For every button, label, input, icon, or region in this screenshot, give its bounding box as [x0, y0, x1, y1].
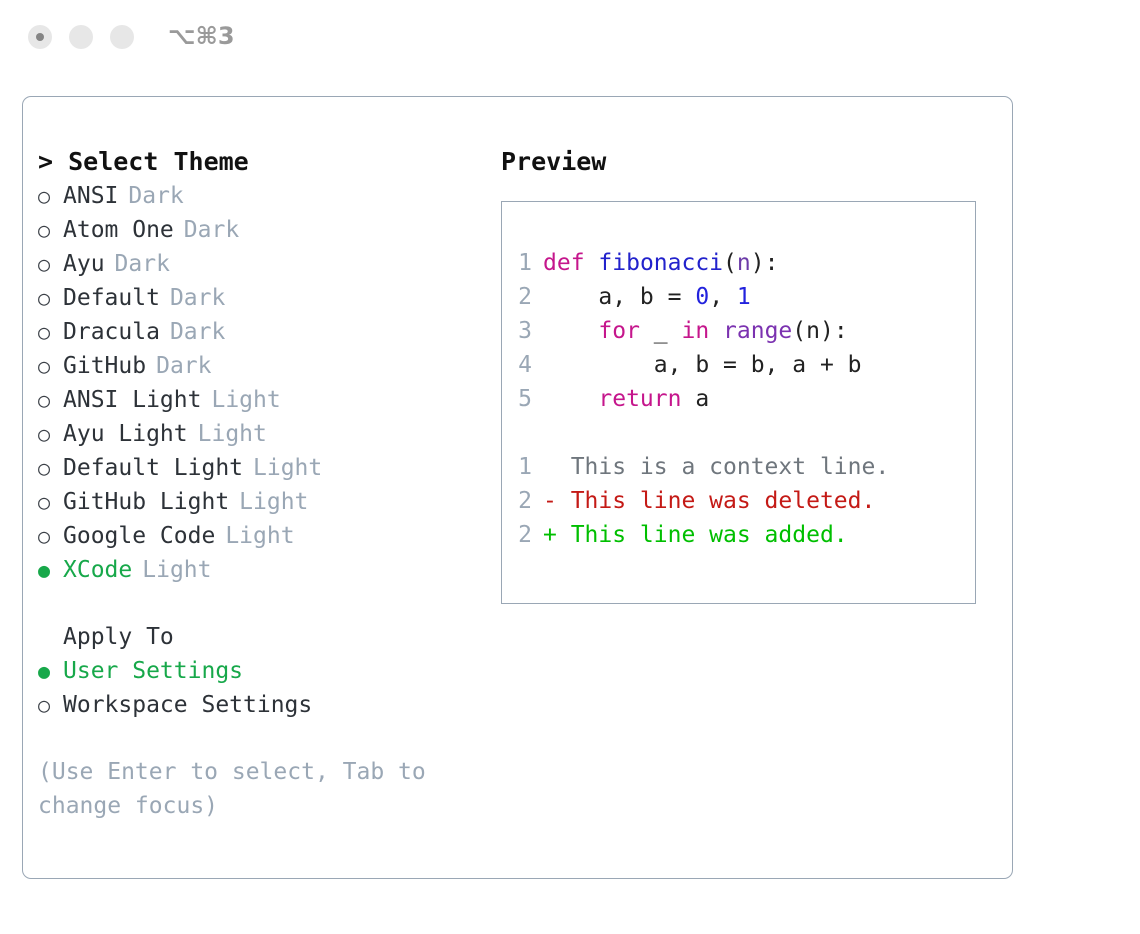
theme-option-label: GitHub Light — [63, 485, 229, 519]
theme-option-ansi[interactable]: ○ANSIDark — [38, 179, 498, 213]
radio-unselected-icon: ○ — [38, 315, 63, 349]
theme-selector-column: > Select Theme ○ANSIDark○Atom OneDark○Ay… — [38, 145, 498, 823]
theme-list[interactable]: ○ANSIDark○Atom OneDark○AyuDark○DefaultDa… — [38, 179, 498, 587]
theme-option-default-light[interactable]: ○Default LightLight — [38, 451, 498, 485]
code-token: a, b = — [543, 284, 695, 310]
title-bar: ⌥⌘3 — [0, 0, 1140, 76]
theme-option-dracula[interactable]: ○DraculaDark — [38, 315, 498, 349]
apply-to-option-user-settings[interactable]: ●User Settings — [38, 654, 498, 688]
theme-option-variant: Light — [225, 519, 294, 553]
theme-option-variant: Dark — [156, 349, 211, 383]
preview-box: 1def fibonacci(n):2 a, b = 0, 13 for _ i… — [501, 201, 976, 604]
theme-option-variant: Light — [253, 451, 322, 485]
active-dot-icon — [36, 33, 44, 41]
radio-unselected-icon: ○ — [38, 349, 63, 383]
theme-option-ayu[interactable]: ○AyuDark — [38, 247, 498, 281]
code-token: fibonacci — [598, 250, 723, 276]
radio-unselected-icon: ○ — [38, 281, 63, 315]
line-number: 4 — [518, 348, 532, 382]
theme-option-github[interactable]: ○GitHubDark — [38, 349, 498, 383]
line-number: 1 — [518, 450, 532, 484]
code-token: def — [543, 250, 585, 276]
theme-option-variant: Light — [211, 383, 280, 417]
preview-heading: Preview — [501, 145, 1001, 179]
code-token: ): — [751, 250, 779, 276]
code-token: _ — [640, 318, 682, 344]
code-preview: 1def fibonacci(n):2 a, b = 0, 13 for _ i… — [518, 246, 889, 552]
code-token: 1 — [737, 284, 751, 310]
apply-to-option-label: Workspace Settings — [63, 688, 312, 722]
theme-option-label: Ayu Light — [63, 417, 188, 451]
code-line: 1def fibonacci(n): — [518, 246, 889, 280]
theme-option-variant: Dark — [184, 213, 239, 247]
radio-unselected-icon: ○ — [38, 383, 63, 417]
theme-option-variant: Dark — [170, 315, 225, 349]
line-number: 2 — [518, 518, 532, 552]
theme-option-label: XCode — [63, 553, 132, 587]
code-spacer — [518, 416, 889, 450]
keyboard-shortcut-label: ⌥⌘3 — [168, 22, 235, 50]
code-token: 0 — [695, 284, 709, 310]
window-button-minimize[interactable] — [69, 25, 93, 49]
diff-line-text: This is a context line. — [543, 454, 889, 480]
theme-option-variant: Light — [198, 417, 267, 451]
theme-option-label: Atom One — [63, 213, 174, 247]
theme-option-label: GitHub — [63, 349, 146, 383]
radio-selected-icon: ● — [38, 553, 63, 587]
line-number: 5 — [518, 382, 532, 416]
theme-option-label: ANSI Light — [63, 383, 201, 417]
theme-option-label: Default — [63, 281, 160, 315]
line-number: 2 — [518, 484, 532, 518]
code-token: a — [681, 386, 709, 412]
code-token — [709, 318, 723, 344]
code-line: 3 for _ in range(n): — [518, 314, 889, 348]
code-token: ( — [723, 250, 737, 276]
window-button-zoom[interactable] — [110, 25, 134, 49]
theme-option-ayu-light[interactable]: ○Ayu LightLight — [38, 417, 498, 451]
theme-option-xcode[interactable]: ●XCodeLight — [38, 553, 498, 587]
theme-option-label: Dracula — [63, 315, 160, 349]
theme-option-google-code[interactable]: ○Google CodeLight — [38, 519, 498, 553]
radio-unselected-icon: ○ — [38, 247, 63, 281]
radio-unselected-icon: ○ — [38, 451, 63, 485]
code-line: 2 a, b = 0, 1 — [518, 280, 889, 314]
diff-line: 2+ This line was added. — [518, 518, 889, 552]
app-window: ⌥⌘3 > Select Theme ○ANSIDark○Atom OneDar… — [0, 0, 1140, 934]
window-controls — [28, 25, 134, 49]
select-theme-heading: > Select Theme — [38, 145, 498, 179]
line-number: 2 — [518, 280, 532, 314]
code-token: range — [723, 318, 792, 344]
code-line: 5 return a — [518, 382, 889, 416]
line-number: 3 — [518, 314, 532, 348]
diff-line: 2- This line was deleted. — [518, 484, 889, 518]
radio-unselected-icon: ○ — [38, 417, 63, 451]
theme-option-ansi-light[interactable]: ○ANSI LightLight — [38, 383, 498, 417]
theme-option-label: ANSI — [63, 179, 118, 213]
main-panel: > Select Theme ○ANSIDark○Atom OneDark○Ay… — [22, 96, 1013, 879]
theme-option-atom-one[interactable]: ○Atom OneDark — [38, 213, 498, 247]
apply-to-option-workspace-settings[interactable]: ○Workspace Settings — [38, 688, 498, 722]
code-token — [585, 250, 599, 276]
code-token: , — [709, 284, 737, 310]
code-token: a, b = b, a + b — [543, 352, 862, 378]
radio-unselected-icon: ○ — [38, 213, 63, 247]
apply-to-option-label: User Settings — [63, 654, 243, 688]
radio-unselected-icon: ○ — [38, 688, 63, 722]
code-token: in — [681, 318, 709, 344]
code-token: (n): — [792, 318, 847, 344]
radio-unselected-icon: ○ — [38, 179, 63, 213]
keyboard-hint-text: (Use Enter to select, Tab to change focu… — [38, 755, 438, 823]
diff-line-text: - This line was deleted. — [543, 488, 875, 514]
theme-option-variant: Light — [142, 553, 211, 587]
theme-option-variant: Dark — [128, 179, 183, 213]
panel-columns: > Select Theme ○ANSIDark○Atom OneDark○Ay… — [23, 97, 1012, 878]
code-line: 4 a, b = b, a + b — [518, 348, 889, 382]
preview-column: Preview 1def fibonacci(n):2 a, b = 0, 13… — [501, 145, 1001, 604]
apply-to-list[interactable]: ●User Settings○Workspace Settings — [38, 654, 498, 722]
code-token: n — [737, 250, 751, 276]
radio-unselected-icon: ○ — [38, 485, 63, 519]
diff-line-text: + This line was added. — [543, 522, 848, 548]
theme-option-label: Default Light — [63, 451, 243, 485]
window-button-close[interactable] — [28, 25, 52, 49]
theme-option-label: Google Code — [63, 519, 215, 553]
radio-unselected-icon: ○ — [38, 519, 63, 553]
apply-to-label: Apply To — [38, 620, 498, 654]
theme-option-label: Ayu — [63, 247, 105, 281]
code-token — [543, 318, 598, 344]
theme-option-github-light[interactable]: ○GitHub LightLight — [38, 485, 498, 519]
theme-option-variant: Dark — [170, 281, 225, 315]
theme-option-variant: Dark — [115, 247, 170, 281]
code-token — [543, 386, 598, 412]
theme-option-default[interactable]: ○DefaultDark — [38, 281, 498, 315]
theme-option-variant: Light — [239, 485, 308, 519]
radio-selected-icon: ● — [38, 654, 63, 688]
line-number: 1 — [518, 246, 532, 280]
code-token: for — [598, 318, 640, 344]
diff-line: 1 This is a context line. — [518, 450, 889, 484]
code-token: return — [598, 386, 681, 412]
